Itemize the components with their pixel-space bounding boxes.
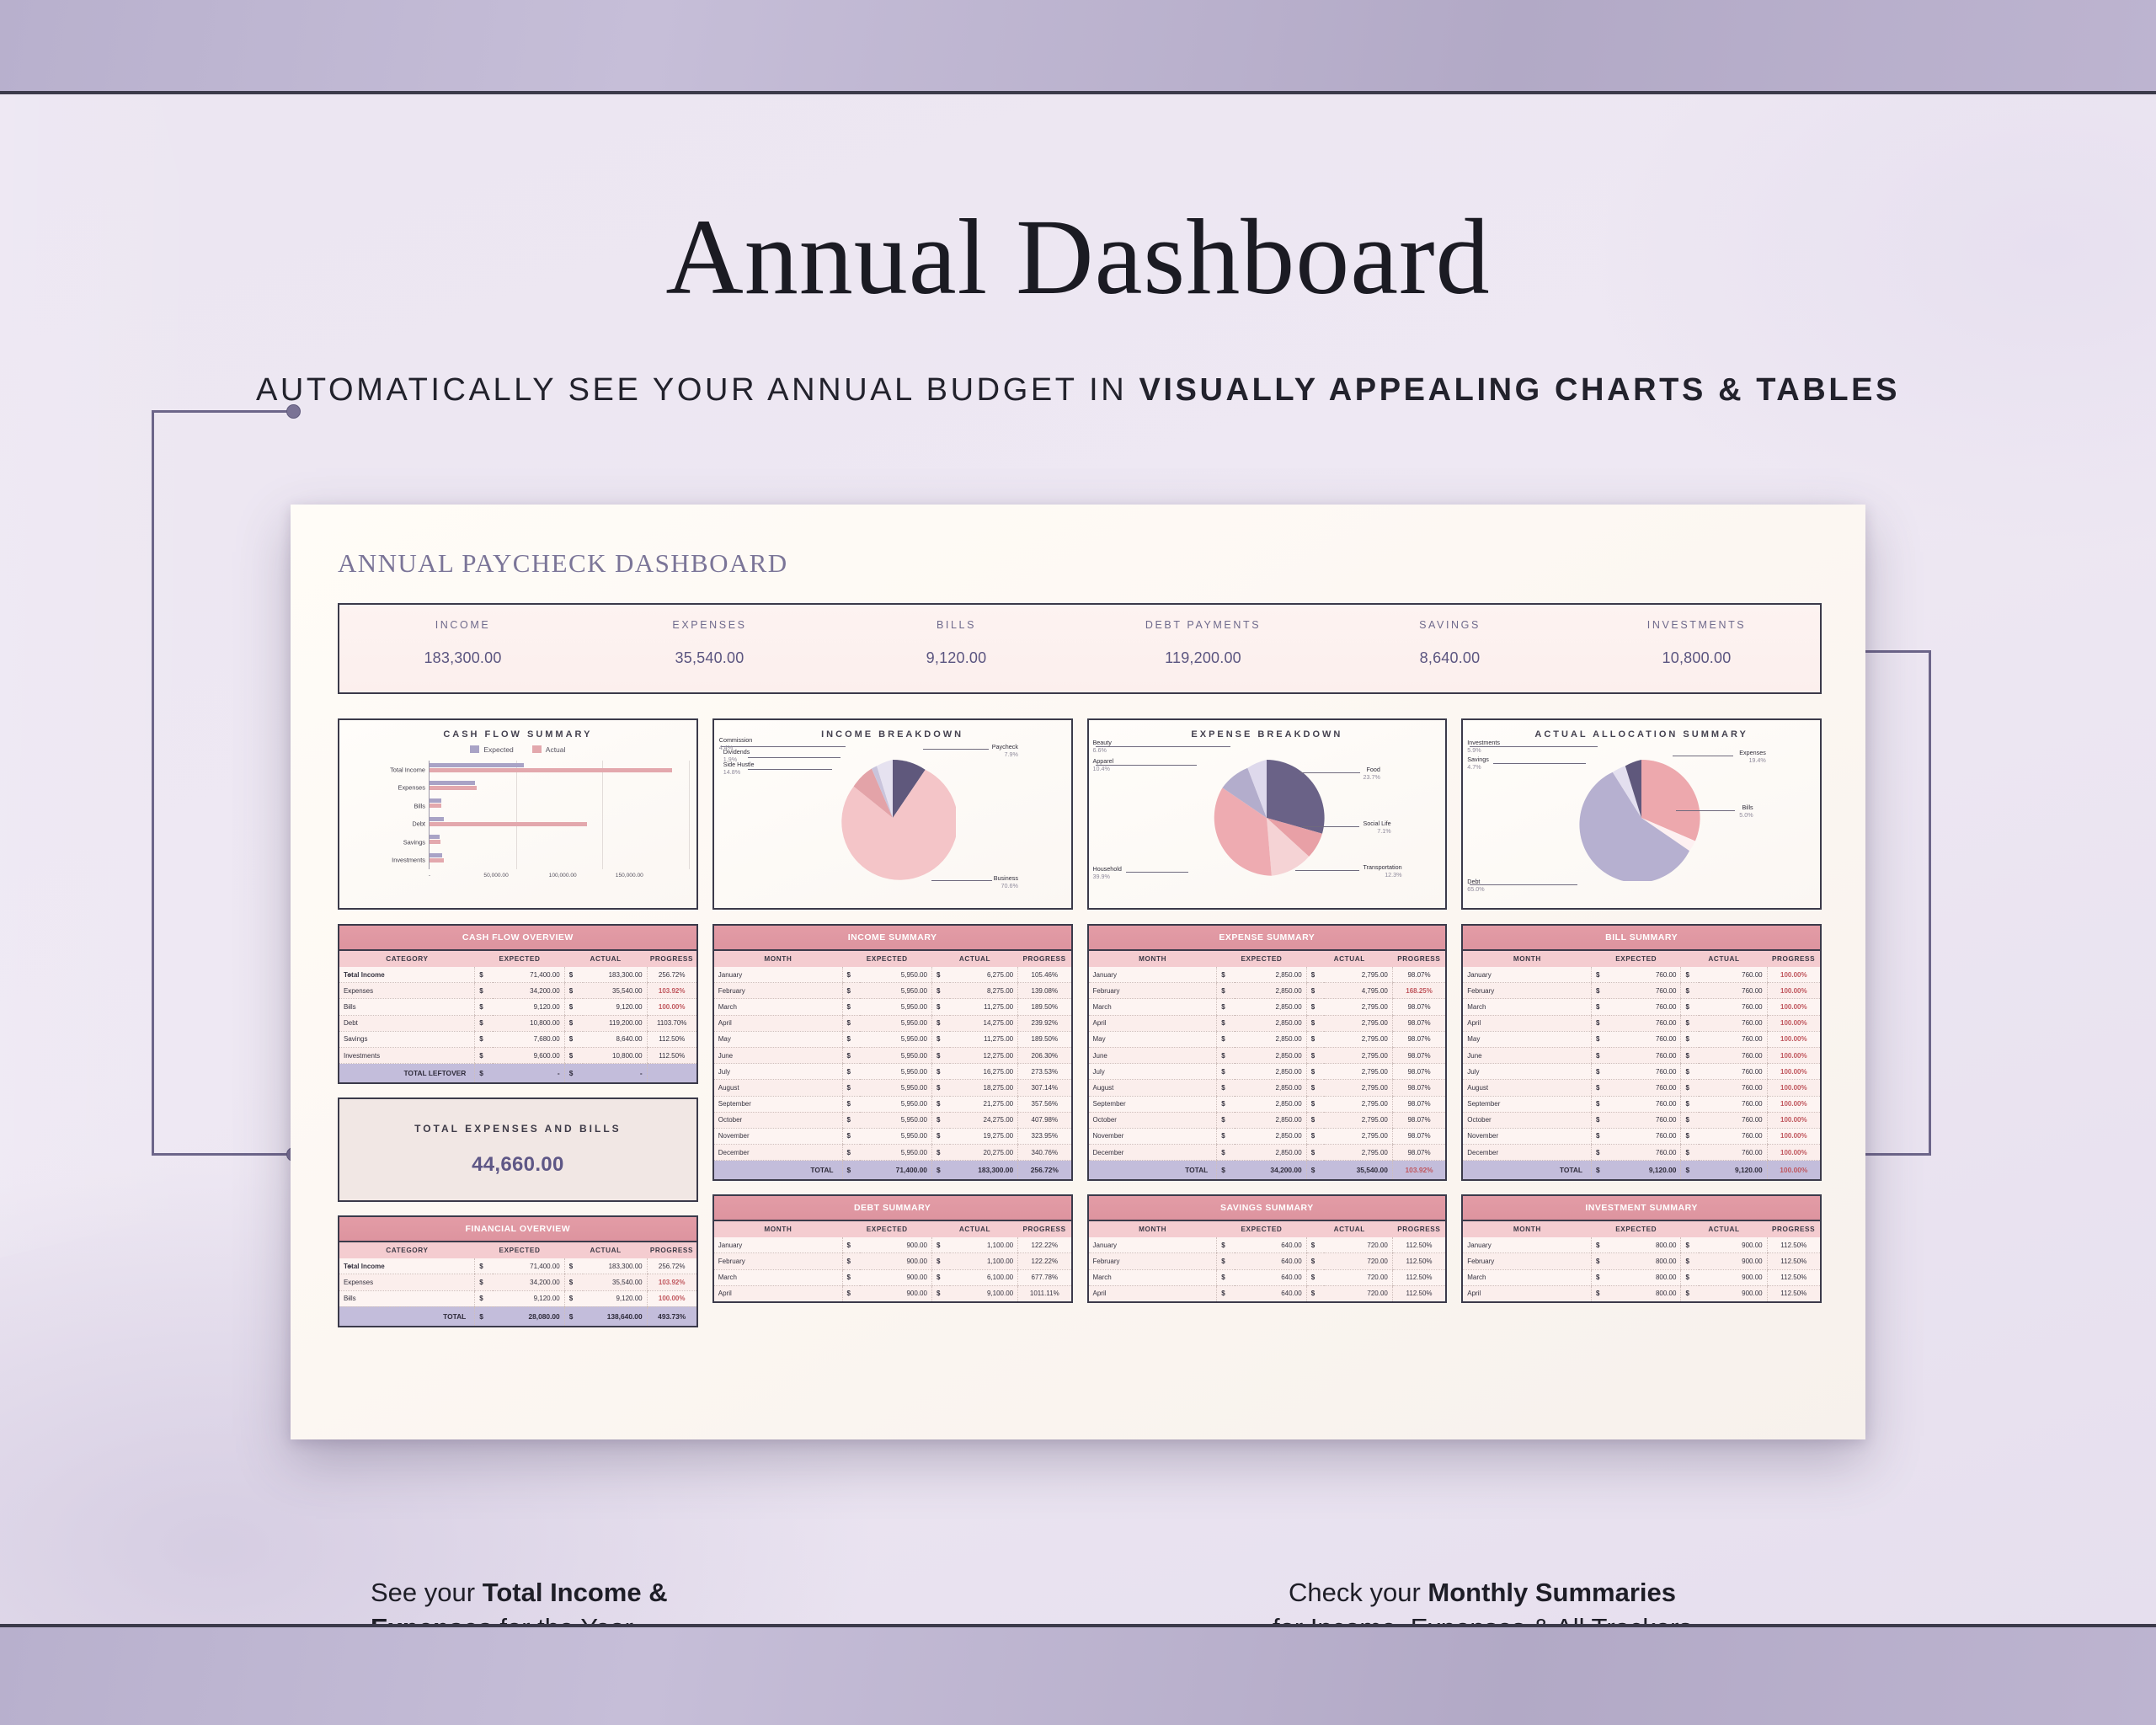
cell-currency: $ [842,983,860,999]
table-row[interactable]: -Expenses$34,200.00$35,540.00103.92% [339,1274,697,1290]
cell-progress: 98.07% [1392,1064,1446,1080]
cell-currency: $ [1592,983,1609,999]
cell-expected: 34,200.00 [493,1274,564,1290]
table-row[interactable]: January$5,950.00$6,275.00105.46% [713,967,1072,983]
col-expected: EXPECTED [1217,1220,1306,1237]
cell-progress: 122.22% [1018,1237,1072,1253]
income-summary-caption: INCOME SUMMARY [713,925,1072,950]
chart-expense-breakdown[interactable]: EXPENSE BREAKDOWN [1087,718,1448,910]
cell-month: December [713,1145,842,1161]
table-row[interactable]: September$760.00$760.00100.00% [1462,1096,1821,1112]
callout-right-bold: Monthly Summaries [1428,1578,1676,1607]
kpi-savings-label: SAVINGS [1326,619,1573,631]
col-expected: EXPECTED [842,1220,931,1237]
cell-actual: 12,275.00 [950,1047,1018,1063]
cell-month: November [713,1128,842,1144]
table-row[interactable]: -Bills$9,120.00$9,120.00100.00% [339,1290,697,1306]
table-row[interactable]: April$800.00$900.00112.50% [1462,1285,1821,1302]
barchart-bar-actual [430,840,440,844]
cell-month: March [1088,1269,1217,1285]
financial-overview-body: +Total Income$71,400.00$183,300.00256.72… [339,1258,697,1327]
cell-actual: 11,275.00 [950,1031,1018,1047]
table-row[interactable]: December$760.00$760.00100.00% [1462,1145,1821,1161]
cell-currency: $ [842,1269,860,1285]
allocation-leader-bills [1676,810,1735,811]
table-row[interactable]: April$5,950.00$14,275.00239.92% [713,1015,1072,1031]
cell-currency: $ [1217,967,1235,983]
cell-progress: 100.00% [1767,1112,1821,1128]
barchart-gridline-3 [689,761,690,869]
col-category: CATEGORY [339,950,475,967]
income-label-side-hustle-pct: 14.8% [723,768,755,776]
cell-currency: $ [564,1274,582,1290]
cell-progress: 112.50% [647,1031,697,1047]
cell-actual: 760.00 [1699,1096,1767,1112]
cash-flow-barchart-plot: Total Income Expenses Bills [355,761,683,883]
col-expected: EXPECTED [1217,950,1306,967]
cell-currency: $ [1681,1161,1699,1181]
col-progress: PROGRESS [1018,1220,1072,1237]
cell-total-actual: 138,640.00 [583,1306,648,1327]
cell-actual: 720.00 [1324,1237,1392,1253]
cell-expected: 5,950.00 [860,1096,931,1112]
cell-sign: - [348,1019,350,1027]
page-subtitle: AUTOMATICALLY SEE YOUR ANNUAL BUDGET IN … [0,372,2156,409]
col-expected: EXPECTED [475,950,564,967]
table-row[interactable]: February$5,950.00$8,275.00139.08% [713,983,1072,999]
cell-progress: 273.53% [1018,1064,1072,1080]
table-row[interactable]: November$5,950.00$19,275.00323.95% [713,1128,1072,1144]
cell-actual: 900.00 [1699,1285,1767,1302]
cell-progress: 139.08% [1018,983,1072,999]
income-leader-sidehustle [748,769,832,770]
table-row[interactable]: January$640.00$720.00112.50% [1088,1237,1447,1253]
cell-progress: 323.95% [1018,1128,1072,1144]
frame-bottom-bar [0,1624,2156,1725]
cell-currency: $ [1306,1031,1324,1047]
income-breakdown-pie-svg [830,755,956,881]
table-row[interactable]: July$760.00$760.00100.00% [1462,1064,1821,1080]
table-row[interactable]: November$2,850.00$2,795.0098.07% [1088,1128,1447,1144]
table-row[interactable]: June$5,950.00$12,275.00206.30% [713,1047,1072,1063]
table-row[interactable]: -Bills$9,120.00$9,120.00100.00% [339,999,697,1015]
table-row[interactable]: October$760.00$760.00100.00% [1462,1112,1821,1128]
cell-expected: 5,950.00 [860,1145,931,1161]
debt-summary-caption: DEBT SUMMARY [713,1195,1072,1220]
cell-currency: $ [1306,1112,1324,1128]
cell-sign: + [348,971,352,979]
table-row[interactable]: February$900.00$1,100.00122.22% [713,1253,1072,1269]
table-row[interactable]: January$2,850.00$2,795.0098.07% [1088,967,1447,983]
tables-column-3: EXPENSE SUMMARY MONTH EXPECTED ACTUAL PR… [1087,924,1448,1327]
cell-currency: $ [1217,1269,1235,1285]
cell-total-progress: 100.00% [1767,1161,1821,1181]
cell-expected: 760.00 [1609,1128,1681,1144]
cell-progress: 168.25% [1392,983,1446,999]
cell-currency: $ [931,1161,949,1181]
income-label-business: Business 70.6% [994,874,1018,889]
cell-month: July [1088,1064,1217,1080]
cell-currency: $ [1681,1112,1699,1128]
cell-currency: $ [931,983,949,999]
table-row[interactable]: January$760.00$760.00100.00% [1462,967,1821,983]
table-row[interactable]: September$5,950.00$21,275.00357.56% [713,1096,1072,1112]
cell-total-actual: 183,300.00 [950,1161,1018,1181]
cell-month: November [1462,1128,1591,1144]
allocation-leader-expenses [1673,756,1733,756]
expense-pie-wrap: Food 23.7% Social Life 7.1% Transportati… [1089,720,1446,908]
cell-currency: $ [931,1112,949,1128]
table-row[interactable]: April$760.00$760.00100.00% [1462,1015,1821,1031]
table-row[interactable]: March$900.00$6,100.00677.78% [713,1269,1072,1285]
cell-currency: $ [475,1015,493,1031]
cell-progress: 112.50% [1767,1253,1821,1269]
cell-month: May [713,1031,842,1047]
kpi-bills-value: 9,120.00 [833,649,1080,667]
cell-progress: 1011.11% [1018,1285,1072,1302]
cell-month: December [1088,1145,1217,1161]
cell-expected: 2,850.00 [1235,967,1306,983]
table-row[interactable]: May$2,850.00$2,795.0098.07% [1088,1031,1447,1047]
cell-currency: $ [1306,1015,1324,1031]
cell-total-expected: 9,120.00 [1609,1161,1681,1181]
kpi-income: INCOME 183,300.00 [339,605,586,692]
cell-progress: 112.50% [1767,1285,1821,1302]
table-row[interactable]: January$900.00$1,100.00122.22% [713,1237,1072,1253]
cell-month: February [713,1253,842,1269]
cell-actual: 760.00 [1699,1047,1767,1063]
cell-actual: 183,300.00 [583,1258,648,1274]
cell-month: June [1462,1047,1591,1063]
cell-currency: $ [842,1237,860,1253]
cell-month: October [1462,1112,1591,1128]
expense-label-transportation-text: Transportation [1364,863,1402,871]
cell-progress: 100.00% [1767,1145,1821,1161]
cell-actual: 720.00 [1324,1285,1392,1302]
barchart-bar-actual [430,786,477,790]
callout-right-line1: Check your Monthly Summaries [1213,1575,1752,1610]
cell-sign: - [348,987,350,995]
cell-currency: $ [931,1064,949,1080]
cell-currency: $ [1306,983,1324,999]
cell-actual: 8,640.00 [583,1031,648,1047]
cell-actual: 35,540.00 [583,983,648,999]
callout-line-left-top [152,410,293,413]
cell-currency: $ [931,967,949,983]
col-actual: ACTUAL [1306,1220,1392,1237]
cell-month: March [1088,999,1217,1015]
income-label-commission-pct: 4.4% [719,744,753,751]
cell-month: January [713,1237,842,1253]
cell-actual: 2,795.00 [1324,1080,1392,1096]
cell-progress: 100.00% [1767,983,1821,999]
cell-actual: 8,275.00 [950,983,1018,999]
cell-expected: 2,850.00 [1235,999,1306,1015]
barchart-rows: Total Income Expenses Bills [430,761,681,869]
table-bill-summary[interactable]: BILL SUMMARY MONTH EXPECTED ACTUAL PROGR… [1461,924,1822,1181]
cell-month: February [1088,1253,1217,1269]
cell-expected: 640.00 [1235,1285,1306,1302]
poster-canvas: Annual Dashboard AUTOMATICALLY SEE YOUR … [0,94,2156,1624]
cell-month: August [1088,1080,1217,1096]
table-row[interactable]: March$800.00$900.00112.50% [1462,1269,1821,1285]
cell-actual: 2,795.00 [1324,1047,1392,1063]
cell-currency: $ [1592,1161,1609,1181]
cell-currency: $ [1592,1285,1609,1302]
cell-actual: 2,795.00 [1324,999,1392,1015]
allocation-pie-wrap: Expenses 19.4% Bills 5.0% Debt 65.0% [1463,720,1820,908]
col-progress: PROGRESS [1767,1220,1821,1237]
cell-currency: $ [1681,1064,1699,1080]
sheet-title: ANNUAL PAYCHECK DASHBOARD [338,548,788,579]
table-row[interactable]: June$760.00$760.00100.00% [1462,1047,1821,1063]
cell-actual: 760.00 [1699,983,1767,999]
kpi-debt-label: DEBT PAYMENTS [1080,619,1326,631]
barchart-bar-expected [430,835,440,839]
chart-row: CASH FLOW SUMMARY Expected Actual Total … [338,718,1822,910]
debt-summary-body: January$900.00$1,100.00122.22%February$9… [713,1237,1072,1302]
table-row[interactable]: February$800.00$900.00112.50% [1462,1253,1821,1269]
barchart-x-ticks: - 50,000.00 100,000.00 150,000.00 [430,871,683,883]
cell-currency: $ [1306,967,1324,983]
cell-actual: 2,795.00 [1324,1128,1392,1144]
col-month: MONTH [1088,950,1217,967]
cell-total-progress: 103.92% [1392,1161,1446,1181]
cell-currency: $ [1681,1128,1699,1144]
kpi-expenses: EXPENSES 35,540.00 [586,605,833,692]
cell-currency: $ [1592,1031,1609,1047]
cell-category: -Investments [339,1047,475,1063]
table-row[interactable]: March$5,950.00$11,275.00189.50% [713,999,1072,1015]
table-row[interactable]: December$2,850.00$2,795.0098.07% [1088,1145,1447,1161]
table-row[interactable]: December$5,950.00$20,275.00340.76% [713,1145,1072,1161]
dashboard-sheet[interactable]: ANNUAL PAYCHECK DASHBOARD INCOME 183,300… [291,505,1865,1439]
cell-currency: $ [1306,1285,1324,1302]
table-financial-overview[interactable]: FINANCIAL OVERVIEW CATEGORY EXPECTED ACT… [338,1215,698,1327]
frame-top-bar [0,0,2156,94]
cell-currency: $ [1306,1047,1324,1063]
cell-actual: 1,100.00 [950,1253,1018,1269]
cell-progress: 98.07% [1392,1047,1446,1063]
table-row[interactable]: -Debt$10,800.00$119,200.001103.70% [339,1015,697,1031]
table-row[interactable]: June$2,850.00$2,795.0098.07% [1088,1047,1447,1063]
table-row[interactable]: August$5,950.00$18,275.00307.14% [713,1080,1072,1096]
cell-expected: 2,850.00 [1235,1047,1306,1063]
cell-currency: $ [564,1306,582,1327]
cell-progress: 112.50% [1392,1253,1446,1269]
table-row[interactable]: March$760.00$760.00100.00% [1462,999,1821,1015]
table-income-summary[interactable]: INCOME SUMMARY MONTH EXPECTED ACTUAL PRO… [712,924,1073,1181]
col-category: CATEGORY [339,1242,475,1258]
table-row[interactable]: +Total Income$71,400.00$183,300.00256.72… [339,1258,697,1274]
cell-progress: 112.50% [1392,1237,1446,1253]
kpi-strip: INCOME 183,300.00 EXPENSES 35,540.00 BIL… [338,603,1822,694]
cell-actual: 2,795.00 [1324,1031,1392,1047]
cell-total-label: TOTAL [339,1306,475,1327]
cell-category: +Total Income [339,1258,475,1274]
table-row[interactable]: May$5,950.00$11,275.00189.50% [713,1031,1072,1047]
table-row[interactable]: September$2,850.00$2,795.0098.07% [1088,1096,1447,1112]
cell-month: September [1462,1096,1591,1112]
cell-month: April [713,1015,842,1031]
cell-expected: 9,120.00 [493,1290,564,1306]
table-row[interactable]: May$760.00$760.00100.00% [1462,1031,1821,1047]
cell-month: June [713,1047,842,1063]
bill-summary-caption: BILL SUMMARY [1462,925,1821,950]
expense-summary-body: January$2,850.00$2,795.0098.07%February$… [1088,967,1447,1180]
callout-right: Check your Monthly Summaries for Income,… [1213,1575,1752,1624]
table-row[interactable]: January$800.00$900.00112.50% [1462,1237,1821,1253]
cell-total-expected: 71,400.00 [860,1161,931,1181]
cell-actual: 6,275.00 [950,967,1018,983]
cell-actual: 2,795.00 [1324,1112,1392,1128]
col-actual: ACTUAL [564,950,647,967]
table-row[interactable]: -Expenses$34,200.00$35,540.00103.92% [339,983,697,999]
table-row[interactable]: October$5,950.00$24,275.00407.98% [713,1112,1072,1128]
table-investment-summary[interactable]: INVESTMENT SUMMARY MONTH EXPECTED ACTUAL… [1461,1194,1822,1303]
col-progress: PROGRESS [1767,950,1821,967]
cell-actual: 760.00 [1699,1128,1767,1144]
cell-total-expected: - [493,1064,564,1084]
cell-expected: 5,950.00 [860,1080,931,1096]
expense-label-transportation-pct: 12.3% [1364,871,1402,879]
col-expected: EXPECTED [1592,950,1681,967]
cell-currency: $ [931,1145,949,1161]
cell-month: August [1462,1080,1591,1096]
cell-expected: 5,950.00 [860,1064,931,1080]
income-leader-business [931,880,992,881]
cell-month: February [1088,983,1217,999]
cell-total-progress: 256.72% [1018,1161,1072,1181]
table-row[interactable]: July$2,850.00$2,795.0098.07% [1088,1064,1447,1080]
cell-actual: 720.00 [1324,1269,1392,1285]
table-row[interactable]: March$2,850.00$2,795.0098.07% [1088,999,1447,1015]
chart-cash-flow-summary[interactable]: CASH FLOW SUMMARY Expected Actual Total … [338,718,698,910]
legend-item-expected: Expected [470,745,513,754]
cell-currency: $ [564,999,582,1015]
income-label-paycheck-pct: 7.9% [992,750,1018,758]
cell-total-expected: 28,080.00 [493,1306,564,1327]
table-row[interactable]: November$760.00$760.00100.00% [1462,1128,1821,1144]
table-row[interactable]: March$640.00$720.00112.50% [1088,1269,1447,1285]
allocation-label-investments-pct: 5.9% [1467,746,1500,754]
table-expense-summary[interactable]: EXPENSE SUMMARY MONTH EXPECTED ACTUAL PR… [1087,924,1448,1181]
table-row[interactable]: October$2,850.00$2,795.0098.07% [1088,1112,1447,1128]
cell-category: +Total Income [339,967,475,983]
table-row[interactable]: August$760.00$760.00100.00% [1462,1080,1821,1096]
cell-currency: $ [931,1285,949,1302]
table-row[interactable]: April$640.00$720.00112.50% [1088,1285,1447,1302]
cell-category: -Expenses [339,983,475,999]
cell-currency: $ [1306,1237,1324,1253]
barchart-tick-3: 150,000.00 [616,873,643,879]
income-label-paycheck: Paycheck 7.9% [992,743,1018,758]
cell-expected: 760.00 [1609,1064,1681,1080]
table-row[interactable]: +Total Income$71,400.00$183,300.00256.72… [339,967,697,983]
barchart-tick-1: 50,000.00 [483,873,508,879]
col-actual: ACTUAL [1681,950,1767,967]
callout-dot-income-kpi [286,404,301,419]
cell-actual: 900.00 [1699,1269,1767,1285]
cell-month: January [713,967,842,983]
cell-currency: $ [564,1064,582,1084]
cell-progress: 100.00% [647,999,697,1015]
barchart-label-total-income: Total Income [390,766,425,773]
table-debt-summary[interactable]: DEBT SUMMARY MONTH EXPECTED ACTUAL PROGR… [712,1194,1073,1303]
cell-progress: 100.00% [1767,1015,1821,1031]
cell-progress: 206.30% [1018,1047,1072,1063]
table-row[interactable]: February$640.00$720.00112.50% [1088,1253,1447,1269]
barchart-bar-expected [430,781,475,785]
table-row[interactable]: -Savings$7,680.00$8,640.00112.50% [339,1031,697,1047]
table-row[interactable]: February$2,850.00$4,795.00168.25% [1088,983,1447,999]
cell-progress: 100.00% [1767,999,1821,1015]
cell-progress: 340.76% [1018,1145,1072,1161]
table-row[interactable]: April$900.00$9,100.001011.11% [713,1285,1072,1302]
cell-progress: 256.72% [647,1258,697,1274]
income-label-commission: Commission 4.4% [719,736,753,751]
cell-actual: 20,275.00 [950,1145,1018,1161]
table-row[interactable]: August$2,850.00$2,795.0098.07% [1088,1080,1447,1096]
cell-currency: $ [1681,967,1699,983]
cell-expected: 760.00 [1609,1031,1681,1047]
cell-total-actual: 35,540.00 [1324,1161,1392,1181]
cell-progress: 98.07% [1392,1080,1446,1096]
cell-total-label: TOTAL [1088,1161,1217,1181]
cell-actual: 760.00 [1699,999,1767,1015]
expense-summary-caption: EXPENSE SUMMARY [1088,925,1447,950]
table-cash-flow-overview[interactable]: CASH FLOW OVERVIEW CATEGORY EXPECTED ACT… [338,924,698,1084]
cell-currency: $ [1217,1096,1235,1112]
barchart-bar-actual [430,804,441,808]
barchart-label-savings: Savings [403,838,425,846]
chart-actual-allocation-summary[interactable]: ACTUAL ALLOCATION SUMMARY [1461,718,1822,910]
cell-currency: $ [1681,999,1699,1015]
col-month: MONTH [1462,950,1591,967]
cell-currency: $ [842,999,860,1015]
cell-sign: - [348,1052,350,1060]
cell-expected: 800.00 [1609,1269,1681,1285]
cell-currency: $ [842,1285,860,1302]
col-expected: EXPECTED [842,950,931,967]
cell-currency: $ [1306,1128,1324,1144]
cell-currency: $ [475,1047,493,1063]
callout-left-pre: See your [371,1578,483,1607]
chart-income-breakdown[interactable]: INCOME BREAKDOWN [712,718,1073,910]
table-row[interactable]: February$760.00$760.00100.00% [1462,983,1821,999]
cell-currency: $ [1592,1253,1609,1269]
cell-month: December [1462,1145,1591,1161]
cell-month: April [1462,1015,1591,1031]
cell-currency: $ [931,1015,949,1031]
table-savings-summary[interactable]: SAVINGS SUMMARY MONTH EXPECTED ACTUAL PR… [1087,1194,1448,1303]
table-row[interactable]: July$5,950.00$16,275.00273.53% [713,1064,1072,1080]
income-label-paycheck-text: Paycheck [992,743,1018,750]
callout-right-line2: for Income, Expenses & All Trackers [1213,1610,1752,1624]
cell-actual: 19,275.00 [950,1128,1018,1144]
cell-currency: $ [1681,1096,1699,1112]
col-expected: EXPECTED [475,1242,564,1258]
cell-expected: 5,950.00 [860,983,931,999]
cell-currency: $ [931,999,949,1015]
cell-progress: 1103.70% [647,1015,697,1031]
cell-currency: $ [1592,1145,1609,1161]
table-row[interactable]: -Investments$9,600.00$10,800.00112.50% [339,1047,697,1063]
barchart-bar-expected [430,853,442,857]
table-row[interactable]: April$2,850.00$2,795.0098.07% [1088,1015,1447,1031]
cell-expected: 2,850.00 [1235,1031,1306,1047]
cell-actual: 2,795.00 [1324,1145,1392,1161]
